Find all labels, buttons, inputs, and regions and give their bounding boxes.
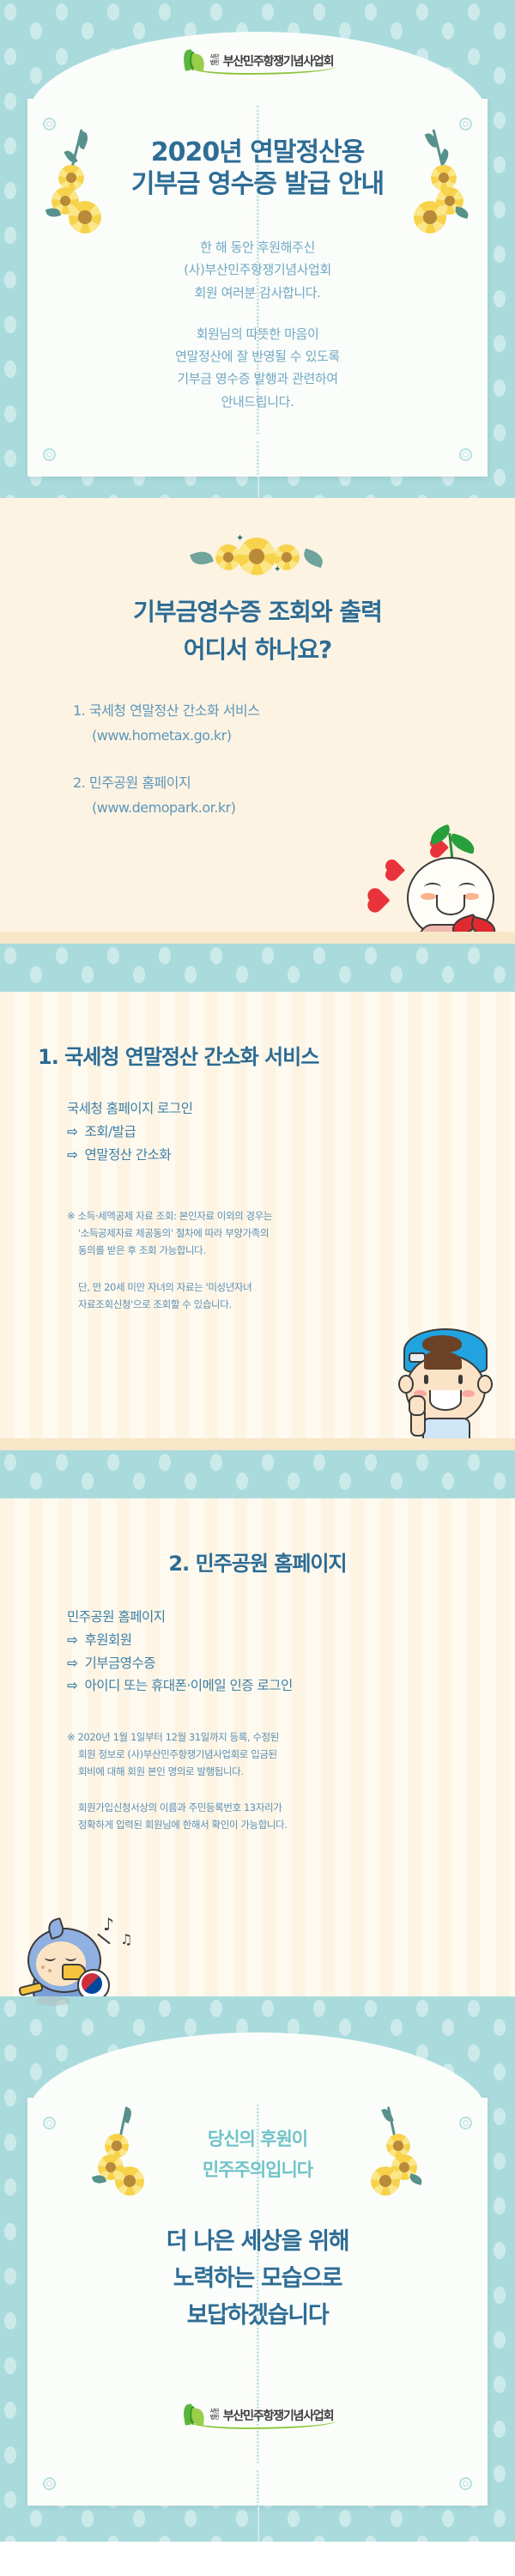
- where-list-item: 2. 민주공원 홈페이지 (www.demopark.or.kr): [73, 771, 515, 821]
- header-body-line: (사)부산민주항쟁기념사업회: [60, 258, 455, 281]
- closing-subtitle-line2: 민주주의입니다: [129, 2158, 386, 2182]
- mascot-blush-left: [421, 893, 436, 900]
- heart-icon: [432, 839, 449, 856]
- bird-cheek-dot: [41, 1965, 45, 1969]
- where-heading: 기부금영수증 조회와 출력 어디서 하나요?: [0, 598, 515, 665]
- ribbon-right: [469, 915, 498, 932]
- gift-bag: [419, 924, 486, 932]
- corner-ring-bl: [43, 2477, 56, 2490]
- header-body-line: 회원님의 따뜻한 마음이: [60, 323, 455, 345]
- section-demopark: 2. 민주공원 홈페이지 민주공원 홈페이지 ⇨ 후원회원 ⇨ 기부금영수증 ⇨…: [0, 1498, 515, 1996]
- divider-tan-2: [0, 1438, 515, 1450]
- boy-arm-pointing: [410, 1407, 426, 1437]
- corner-ring-tl: [43, 2117, 56, 2129]
- note-line: '소득공제자료 제공동의' 절차에 따라 부양가족의: [67, 1224, 455, 1242]
- section-header: 사단법인 부산민주항쟁기념사업회: [0, 0, 515, 498]
- where-item-url[interactable]: (www.hometax.go.kr): [73, 724, 515, 749]
- bird-beak: [62, 1964, 86, 1980]
- header-body-line: 회원 여러분 감사합니다.: [60, 282, 455, 304]
- section-where: ✦ ✦ 기부금영수증 조회와 출력 어디서 하나요? 1. 국세청 연말정산 간…: [0, 498, 515, 932]
- cap-strap: [409, 1352, 426, 1363]
- mascot-sprout-gift: [360, 823, 515, 932]
- star-glyph: ✦: [236, 532, 244, 544]
- demopark-note-1: ※ 2020년 1월 1일부터 12월 31일까지 등록, 수정된 회원 정보로…: [0, 1728, 515, 1780]
- mascot-eye-left: [424, 883, 441, 893]
- bird-face: [36, 1941, 86, 1986]
- header-body: 한 해 동안 후원해주신 (사)부산민주항쟁기념사업회 회원 여러분 감사합니다…: [60, 236, 455, 413]
- header-title: 2020년 연말정산용 기부금 영수증 발급 안내: [94, 137, 421, 200]
- cap: [403, 1328, 488, 1373]
- bird-eye-left: [45, 1953, 56, 1961]
- where-item-label: 1. 국세청 연말정산 간소화 서비스: [73, 699, 515, 724]
- note-line: 자료조회신청'으로 조회할 수 있습니다.: [78, 1298, 232, 1310]
- logo-swoosh: [187, 66, 337, 75]
- org-logo-footer: 사단법인 부산민주항쟁기념사업회: [0, 2404, 515, 2430]
- note-line: ※ 소득·세액공제 자료 조회: 본인자료 이외의 경우는: [67, 1207, 455, 1224]
- header-body-line: 기부금 영수증 발행과 관련하여: [60, 368, 455, 390]
- where-heading-line2: 어디서 하나요?: [26, 635, 489, 665]
- arrow-right-icon: ⇨: [67, 1629, 81, 1652]
- divider-dots-1: [0, 944, 515, 992]
- corner-ring-tl: [43, 118, 56, 131]
- mascot-bird: ♪ ♫: [14, 1909, 142, 1996]
- bird-cheek-dot: [48, 1969, 51, 1972]
- motion-line: [97, 1934, 110, 1945]
- heart-icon: [387, 861, 405, 879]
- boy-smile: [429, 1390, 462, 1411]
- closing-line: 더 나은 세상을 위해: [51, 2227, 463, 2257]
- arrow-right-icon: ⇨: [67, 1674, 81, 1698]
- section-hometax: 1. 국세청 연말정산 간소화 서비스 국세청 홈페이지 로그인 ⇨ 조회/발급…: [0, 992, 515, 1438]
- section-closing: 당신의 후원이 민주주의입니다 더 나은 세상을 위해 노력하는 모습으로 보답…: [0, 1996, 515, 2542]
- closing-line: 보답하겠습니다: [51, 2300, 463, 2330]
- demopark-step: 민주공원 홈페이지: [67, 1606, 515, 1629]
- sprout-leaf-right: [448, 833, 477, 854]
- demopark-heading: 2. 민주공원 홈페이지: [0, 1552, 515, 1577]
- where-item-url[interactable]: (www.demopark.or.kr): [73, 796, 515, 821]
- note-line: 동의를 받은 후 조회 가능합니다.: [67, 1242, 455, 1259]
- mascot-eye-right: [458, 883, 476, 893]
- cap-hair-opening: [422, 1335, 462, 1352]
- where-list: 1. 국세청 연말정산 간소화 서비스 (www.hometax.go.kr) …: [0, 699, 515, 820]
- boy-eye-left: [424, 1375, 428, 1384]
- boy-face: [405, 1354, 486, 1425]
- demopark-step: ⇨ 후원회원: [67, 1629, 515, 1652]
- arrow-right-icon: ⇨: [67, 1144, 81, 1167]
- note-line: ※ 2020년 1월 1일부터 12월 31일까지 등록, 수정된: [67, 1728, 472, 1746]
- sprout-stem: [448, 833, 454, 862]
- arrow-right-icon: ⇨: [67, 1652, 81, 1675]
- note-line: 회원 정보로 (사)부산민주항쟁기념사업회로 입금된: [67, 1746, 472, 1763]
- taegeuk-flag-icon: [77, 1969, 110, 1996]
- note-line: 단, 만 20세 미만 자녀의 자료는 '미성년자녀: [78, 1281, 251, 1293]
- bird-wing-left: [18, 1982, 44, 1996]
- boy-shirt: [422, 1418, 470, 1438]
- org-logo-top: 사단법인 부산민주항쟁기념사업회: [0, 50, 515, 76]
- logo-swoosh: [187, 2421, 337, 2429]
- header-body-line: 연말정산에 잘 반영될 수 있도록: [60, 345, 455, 368]
- org-prefix: 사단법인: [210, 2409, 219, 2421]
- header-title-line1: 2020년 연말정산용: [94, 137, 421, 169]
- star-glyph: ✦: [274, 565, 281, 574]
- corner-ring-br: [459, 448, 472, 461]
- boy-ear-left: [398, 1375, 414, 1394]
- where-list-item: 1. 국세청 연말정산 간소화 서비스 (www.hometax.go.kr): [73, 699, 515, 749]
- flower-cluster-divider: ✦ ✦: [185, 532, 330, 579]
- boy-hand-finger: [409, 1395, 426, 1416]
- hometax-note-1: ※ 소득·세액공제 자료 조회: 본인자료 이외의 경우는 '소득공제자료 제공…: [0, 1207, 515, 1259]
- header-title-line2: 기부금 영수증 발급 안내: [94, 169, 421, 201]
- note-line: 회비에 대해 회원 본인 명의로 발행됩니다.: [67, 1763, 472, 1780]
- closing-subtitle-line1: 당신의 후원이: [129, 2127, 386, 2151]
- note-line: 정확하게 입력된 회원님에 한해서 확인이 가능합니다.: [78, 1819, 288, 1831]
- divider-dots-2: [0, 1450, 515, 1498]
- boy-blush-left: [414, 1390, 427, 1397]
- boy-hair: [424, 1351, 462, 1370]
- bird-shadow-overlap: [36, 1996, 70, 2006]
- hometax-note-2: 단, 만 20세 미만 자녀의 자료는 '미성년자녀 자료조회신청'으로 조회할…: [0, 1279, 515, 1313]
- bird-body: [33, 1959, 98, 1996]
- ribbon-left: [450, 914, 480, 932]
- heart-icon: [369, 890, 390, 910]
- dash-line-right: [257, 2470, 259, 2542]
- infographic-page: 사단법인 부산민주항쟁기념사업회: [0, 0, 515, 2576]
- sprout-leaf-left: [427, 824, 453, 846]
- header-body-line: 안내드립니다.: [60, 391, 455, 413]
- demopark-step: ⇨ 기부금영수증: [67, 1652, 515, 1675]
- corner-ring-br: [459, 2477, 472, 2490]
- music-note-icon: ♪: [103, 1914, 114, 1935]
- bird-hood: [27, 1928, 101, 1993]
- hometax-step: 국세청 홈페이지 로그인: [67, 1097, 515, 1121]
- closing-subtitle: 당신의 후원이 민주주의입니다: [129, 2127, 386, 2183]
- org-prefix: 사단법인: [210, 55, 219, 67]
- header-body-spacer: [60, 304, 455, 323]
- music-note-icon: ♫: [120, 1931, 132, 1947]
- where-list-gap: [73, 749, 515, 771]
- where-heading-line1: 기부금영수증 조회와 출력: [26, 598, 489, 627]
- hometax-step: ⇨ 연말정산 간소화: [67, 1144, 515, 1167]
- corner-ring-tr: [459, 118, 472, 131]
- demopark-step: ⇨ 아이디 또는 휴대폰·이메일 인증 로그인: [67, 1674, 515, 1698]
- corner-ring-bl: [43, 448, 56, 461]
- boy-ear-right: [477, 1375, 493, 1394]
- mascot-smile: [436, 895, 465, 915]
- hometax-heading: 1. 국세청 연말정산 간소화 서비스: [0, 1045, 515, 1070]
- divider-tan-1: [0, 932, 515, 944]
- mascot-blush-right: [463, 893, 479, 900]
- header-body-line: 한 해 동안 후원해주신: [60, 236, 455, 258]
- boy-eye-right: [458, 1375, 463, 1384]
- mascot-boy: [379, 1321, 508, 1438]
- dash-line-right: [257, 441, 259, 498]
- mascot-head: [407, 857, 494, 932]
- hometax-step: ⇨ 조회/발급: [67, 1121, 515, 1144]
- corner-ring-tr: [459, 2117, 472, 2129]
- bird-eye-right: [65, 1953, 76, 1961]
- arrow-right-icon: ⇨: [67, 1121, 81, 1144]
- demopark-steps: 민주공원 홈페이지 ⇨ 후원회원 ⇨ 기부금영수증 ⇨ 아이디 또는 휴대폰·이…: [0, 1606, 515, 1698]
- closing-message: 더 나은 세상을 위해 노력하는 모습으로 보답하겠습니다: [51, 2227, 463, 2330]
- taegeuk-symbol: [82, 1973, 102, 1994]
- bird-crest: [45, 1917, 66, 1940]
- closing-line: 노력하는 모습으로: [51, 2263, 463, 2293]
- where-item-label: 2. 민주공원 홈페이지: [73, 771, 515, 796]
- note-line: 회원가입신청서상의 이름과 주민등록번호 13자리가: [78, 1801, 282, 1814]
- boy-blush-right: [462, 1390, 475, 1397]
- hometax-steps: 국세청 홈페이지 로그인 ⇨ 조회/발급 ⇨ 연말정산 간소화: [0, 1097, 515, 1166]
- demopark-note-2: 회원가입신청서상의 이름과 주민등록번호 13자리가 정확하게 입력된 회원님에…: [0, 1799, 515, 1833]
